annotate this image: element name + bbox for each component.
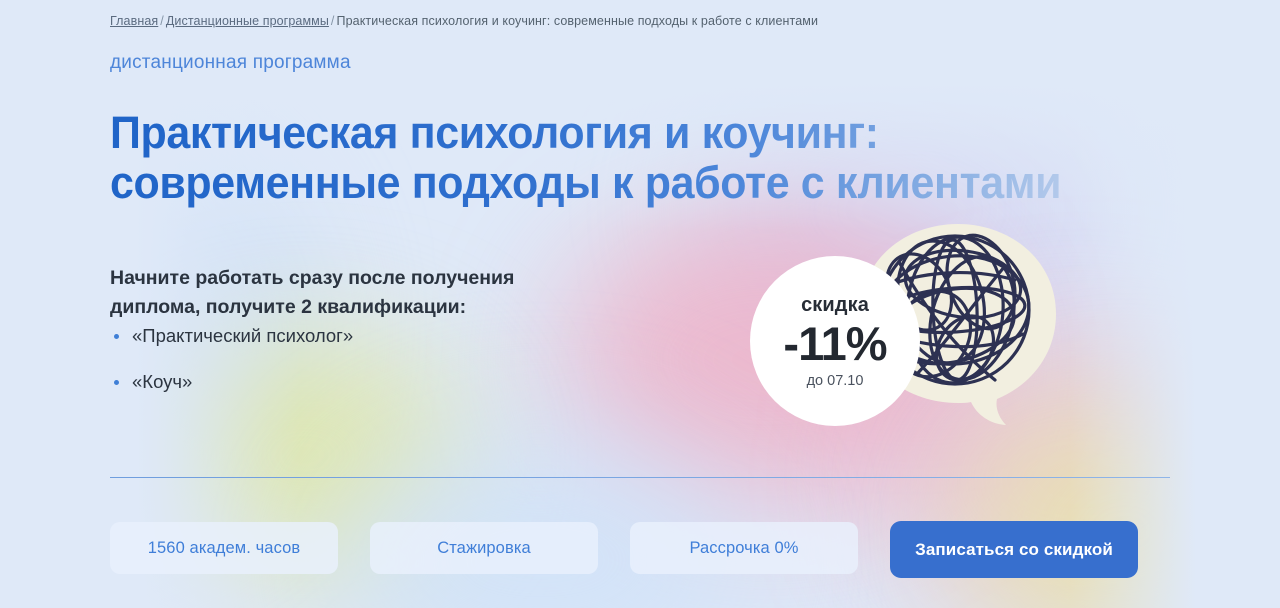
- breadcrumb-current: Практическая психология и коучинг: совре…: [337, 14, 819, 28]
- fact-chip-installment[interactable]: Рассрочка 0%: [630, 522, 858, 574]
- enroll-with-discount-button[interactable]: Записаться со скидкой: [890, 521, 1138, 578]
- page-title-line-2: современные подходы к работе с клиентами: [110, 158, 1075, 208]
- breadcrumb-link-distance-programs[interactable]: Дистанционные программы: [166, 14, 329, 28]
- qualification-label: «Коуч»: [132, 371, 192, 392]
- page-title-line-1: Практическая психология и коучинг:: [110, 108, 1075, 158]
- breadcrumb-link-home[interactable]: Главная: [110, 14, 158, 28]
- hero-lead-text: Начните работать сразу после получения д…: [110, 264, 630, 322]
- list-item: «Коуч»: [110, 368, 353, 396]
- background-veil-right: [1070, 0, 1280, 608]
- program-type-label: дистанционная программа: [110, 52, 351, 74]
- qualification-label: «Практический психолог»: [132, 325, 353, 346]
- discount-badge-title: скидка: [801, 294, 869, 317]
- background-blob-blue-bottom: [330, 430, 750, 608]
- hero-lead-line-2: диплома, получите 2 квалификации:: [110, 293, 630, 322]
- discount-badge: скидка -11% до 07.10: [750, 256, 920, 426]
- hero-lead-line-1: Начните работать сразу после получения: [110, 264, 630, 293]
- bullet-dot-icon: [114, 334, 119, 339]
- breadcrumb-separator: /: [329, 14, 337, 28]
- discount-badge-value: -11%: [783, 318, 886, 370]
- breadcrumb-separator: /: [158, 14, 166, 28]
- bullet-dot-icon: [114, 380, 119, 385]
- fact-chip-internship[interactable]: Стажировка: [370, 522, 598, 574]
- list-item: «Практический психолог»: [110, 322, 353, 350]
- page-title: Практическая психология и коучинг: совре…: [110, 108, 1075, 208]
- fact-chip-hours[interactable]: 1560 академ. часов: [110, 522, 338, 574]
- discount-badge-deadline: до 07.10: [807, 373, 864, 389]
- hero-page: Главная/Дистанционные программы/Практиче…: [0, 0, 1280, 608]
- qualifications-list: «Практический психолог» «Коуч»: [110, 322, 353, 414]
- breadcrumb: Главная/Дистанционные программы/Практиче…: [110, 14, 818, 28]
- section-divider: [110, 477, 1170, 478]
